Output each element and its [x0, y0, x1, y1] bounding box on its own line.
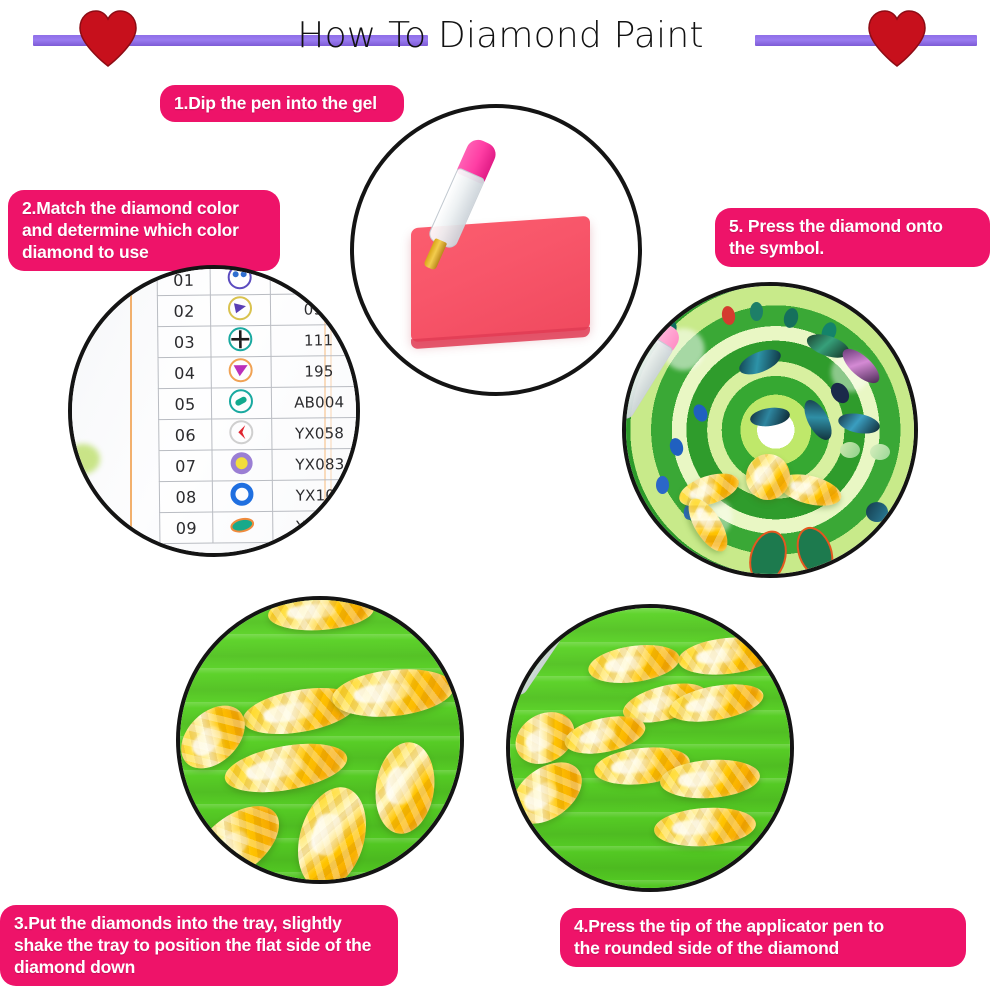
yellow-diamond	[653, 804, 757, 849]
chart-code: 195	[271, 355, 360, 387]
yellow-diamond	[659, 757, 761, 802]
chart-number: 05	[158, 388, 212, 420]
chart-smudge	[68, 494, 94, 516]
leaf-icon	[230, 512, 256, 538]
canvas-bead	[691, 402, 710, 424]
canvas-gem	[837, 343, 885, 389]
yellow-diamond	[506, 750, 593, 836]
table-row: 06 YX058	[159, 417, 360, 450]
yellow-diamond	[370, 738, 440, 837]
canvas-bead	[750, 302, 763, 321]
caption-line: and determine which color	[22, 219, 266, 241]
chart-symbol-cell	[211, 356, 271, 388]
yellow-diamond	[586, 640, 682, 688]
pen-dipping-into-gel-image	[354, 108, 638, 392]
down-triangle-icon	[228, 357, 254, 383]
chart-code: YX125	[272, 510, 360, 542]
chart-number: 08	[159, 481, 213, 513]
yellow-diamond	[330, 664, 456, 723]
chart-symbol-cell	[213, 480, 273, 512]
step-5-photo	[622, 282, 918, 578]
chart-code: YX058	[271, 417, 360, 449]
chart-number: 01	[157, 265, 211, 296]
caption-line: diamond down	[14, 956, 384, 978]
canvas-gem	[736, 344, 784, 379]
chart-code: YX083	[272, 448, 360, 480]
canvas-leaf	[743, 526, 792, 578]
chart-symbol-cell	[213, 511, 273, 543]
chart-number: 02	[157, 295, 211, 327]
yellow-diamonds-in-tray-image	[180, 600, 460, 880]
chart-symbol-cell	[211, 294, 271, 326]
table-row: 09 YX125	[160, 510, 360, 543]
capsule-icon	[228, 388, 254, 414]
table-row: 05 AB004	[158, 386, 360, 419]
chart-number: 04	[158, 357, 212, 389]
chart-number: 06	[159, 419, 213, 451]
step-2-caption: 2.Match the diamond color and determine …	[8, 190, 280, 271]
table-row: 03 111	[158, 324, 360, 357]
chart-number: 03	[158, 326, 212, 358]
double-dot-icon	[227, 265, 253, 290]
color-chart-table: 01 028 02	[157, 265, 360, 544]
table-row: 07 YX083	[159, 448, 360, 481]
caption-line: 2.Match the diamond color	[22, 197, 266, 219]
chart-code: 093	[270, 293, 360, 325]
chart-symbol-cell	[211, 325, 271, 357]
yellow-diamond	[267, 596, 375, 634]
chart-code: 028	[270, 265, 360, 294]
chart-symbol-cell	[210, 265, 270, 295]
canvas-bead	[720, 305, 736, 326]
caption-line: 5. Press the diamond onto	[729, 215, 976, 237]
pen-tip	[622, 407, 624, 452]
caption-line: 4.Press the tip of the applicator pen to	[574, 915, 952, 937]
canvas-gem	[837, 410, 882, 436]
table-row: 01 028	[157, 265, 360, 296]
chart-smudge	[68, 444, 100, 474]
step-4-photo	[506, 604, 794, 892]
canvas-bead	[656, 476, 669, 494]
step-1-photo	[350, 104, 642, 396]
chart-symbol-cell	[212, 449, 272, 481]
plus-icon	[228, 326, 254, 352]
pen-picking-up-diamond-image	[510, 608, 790, 888]
canvas-bead	[782, 307, 800, 330]
filled-triangle-icon	[227, 295, 253, 321]
yellow-diamond	[179, 791, 292, 884]
caption-line: 3.Put the diamonds into the tray, slight…	[14, 912, 384, 934]
step-5-caption: 5. Press the diamond onto the symbol.	[715, 208, 990, 267]
infographic-page: How To Diamond Paint 1.Dip the pen into …	[0, 0, 1001, 1001]
step-3-caption: 3.Put the diamonds into the tray, slight…	[0, 905, 398, 986]
chart-number: 07	[159, 450, 213, 482]
pen-barrel	[622, 333, 674, 422]
ring-icon	[229, 481, 255, 507]
table-row: 08 YX106	[159, 479, 360, 512]
canvas-gem	[840, 442, 860, 458]
chart-guide-line	[130, 269, 132, 553]
caption-line: diamond to use	[22, 241, 266, 263]
chart-symbol-cell	[212, 418, 272, 450]
left-chevron-icon	[229, 419, 255, 445]
diamond-color-chart-image: 01 028 02	[72, 269, 356, 553]
yellow-diamond	[676, 633, 777, 679]
chart-code: AB004	[271, 386, 360, 418]
canvas-leaf	[790, 522, 840, 578]
canvas-gem	[799, 396, 837, 444]
caption-line: the rounded side of the diamond	[574, 937, 952, 959]
chart-code: YX106	[272, 479, 360, 511]
chart-code: 111	[270, 324, 360, 356]
canvas-bead	[827, 379, 853, 406]
yellow-diamond	[287, 779, 377, 884]
placing-diamond-on-canvas-image	[626, 286, 914, 574]
table-row: 04 195	[158, 355, 360, 388]
caption-line: the symbol.	[729, 237, 976, 259]
canvas-bead	[668, 437, 685, 458]
yellow-diamond-being-placed	[743, 451, 793, 503]
pen-tip	[506, 679, 519, 730]
filled-circle-icon	[229, 450, 255, 476]
step-2-photo: 01 028 02	[68, 265, 360, 557]
canvas-gem	[749, 405, 791, 428]
table-row: 02 093	[157, 293, 360, 326]
chart-number: 09	[160, 512, 214, 544]
page-title: How To Diamond Paint	[0, 14, 1001, 58]
page-header: How To Diamond Paint	[0, 0, 1001, 72]
chart-symbol-cell	[212, 387, 272, 419]
step-4-caption: 4.Press the tip of the applicator pen to…	[560, 908, 966, 967]
step-3-photo	[176, 596, 464, 884]
caption-line: shake the tray to position the flat side…	[14, 934, 384, 956]
canvas-gem	[870, 444, 890, 460]
yellow-diamond	[681, 493, 735, 558]
canvas-gem	[866, 502, 888, 522]
